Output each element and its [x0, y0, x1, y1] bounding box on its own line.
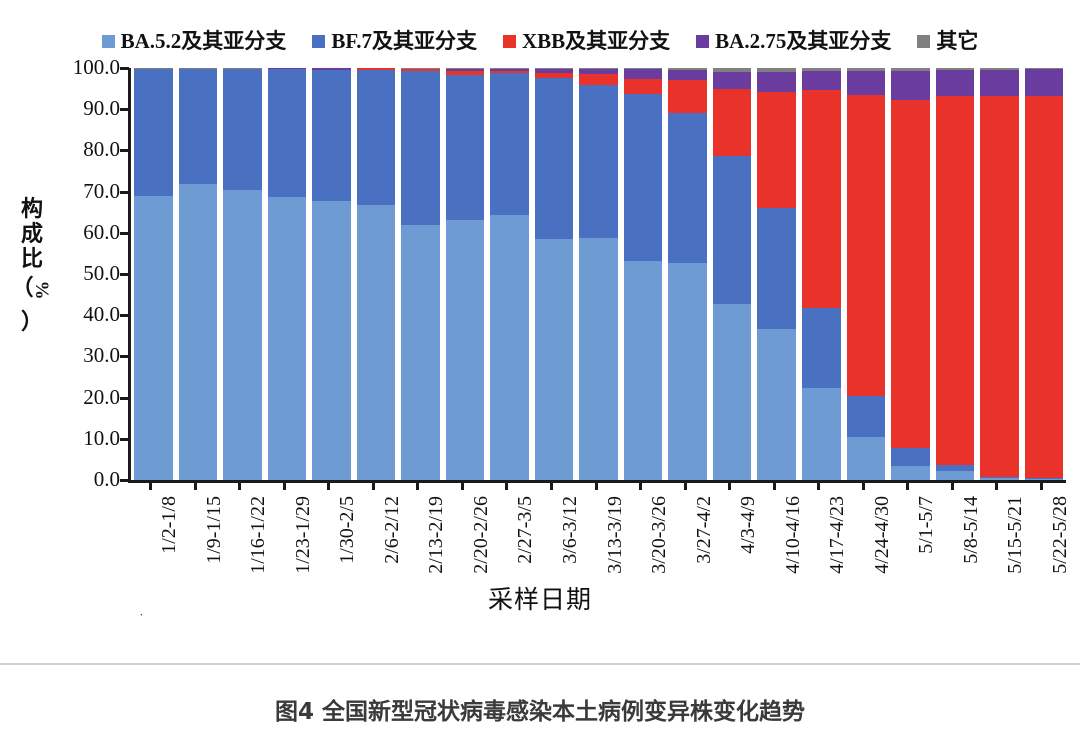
- legend-item[interactable]: 其它: [917, 31, 978, 52]
- bar-segment: [802, 388, 841, 480]
- bar-segment: [312, 70, 351, 201]
- x-axis-tick-mark: [372, 481, 375, 490]
- bar-segment: [891, 100, 930, 448]
- y-axis-tick-mark: [120, 479, 129, 482]
- bar-column[interactable]: [665, 68, 710, 480]
- chart-legend: BA.5.2及其亚分支BF.7及其亚分支XBB及其亚分支BA.2.75及其亚分支…: [0, 24, 1080, 58]
- x-axis-tick-label: 2/13-2/19: [426, 496, 446, 574]
- legend-item[interactable]: BF.7及其亚分支: [312, 31, 477, 52]
- y-axis-tick-mark: [120, 314, 129, 317]
- bar-column[interactable]: [131, 68, 176, 480]
- legend-item-label: BA.2.75及其亚分支: [715, 31, 891, 52]
- bar-segment: [268, 197, 307, 480]
- bar-segment: [847, 71, 886, 96]
- x-axis-tick-mark: [995, 481, 998, 490]
- bar-segment: [357, 205, 396, 480]
- bar-segment: [713, 304, 752, 480]
- bar-segment: [847, 95, 886, 396]
- bar-segment: [134, 196, 173, 480]
- bar-segment: [757, 72, 796, 92]
- x-axis-tick-label: 3/13-3/19: [605, 496, 625, 574]
- x-axis-tick-label: 1/23-1/29: [293, 496, 313, 574]
- x-axis-tick-label: 2/27-3/5: [515, 496, 535, 564]
- bar-segment: [579, 238, 618, 480]
- bar-segment: [668, 263, 707, 480]
- plot-area: [128, 68, 1066, 483]
- x-axis-tick-label: 4/24-4/30: [872, 496, 892, 574]
- bar-segment: [847, 437, 886, 480]
- x-axis-tick-mark: [817, 481, 820, 490]
- figure-divider: [0, 663, 1080, 665]
- bar-column[interactable]: [933, 68, 978, 480]
- bar-segment: [624, 94, 663, 261]
- x-axis-tick-mark: [728, 481, 731, 490]
- y-axis-title-line: 成: [21, 221, 43, 246]
- y-axis-tick-label: 70.0: [42, 181, 120, 202]
- bar-segment: [668, 113, 707, 263]
- bar-segment: [357, 70, 396, 205]
- x-axis-tick-label: 5/1-5/7: [916, 496, 936, 554]
- legend-swatch-icon: [312, 35, 325, 48]
- bar-column[interactable]: [487, 68, 532, 480]
- bar-column[interactable]: [398, 68, 443, 480]
- bar-column[interactable]: [888, 68, 933, 480]
- bar-segment: [624, 69, 663, 79]
- x-axis-tick-label: 2/6-2/12: [382, 496, 402, 564]
- bar-segment: [713, 72, 752, 89]
- bar-column[interactable]: [977, 68, 1022, 480]
- bar-segment: [223, 190, 262, 480]
- bar-segment: [624, 261, 663, 480]
- bar-segment: [446, 220, 485, 480]
- bar-column[interactable]: [754, 68, 799, 480]
- bar-segment: [891, 466, 930, 480]
- x-axis-tick-mark: [283, 481, 286, 490]
- bar-segment: [1025, 96, 1064, 478]
- bar-segment: [980, 96, 1019, 477]
- bar-segment: [535, 239, 574, 480]
- x-axis-tick-label: 1/16-1/22: [248, 496, 268, 574]
- x-axis-tick-label: 1/2-1/8: [159, 496, 179, 554]
- x-axis-tick-mark: [149, 481, 152, 490]
- legend-item[interactable]: BA.5.2及其亚分支: [102, 31, 287, 52]
- bar-segment: [401, 225, 440, 480]
- y-axis-tick-mark: [120, 67, 129, 70]
- x-axis-tick-mark: [194, 481, 197, 490]
- bar-column[interactable]: [354, 68, 399, 480]
- x-axis-tick-label: 4/17-4/23: [827, 496, 847, 574]
- x-axis-tick-mark: [773, 481, 776, 490]
- x-axis-tick-label: 5/8-5/14: [961, 496, 981, 564]
- x-axis-tick-label: 1/9-1/15: [204, 496, 224, 564]
- legend-item-label: BF.7及其亚分支: [331, 31, 477, 52]
- bar-column[interactable]: [532, 68, 577, 480]
- bar-column[interactable]: [799, 68, 844, 480]
- y-axis-tick-mark: [120, 355, 129, 358]
- y-axis-tick-label: 50.0: [42, 263, 120, 284]
- x-axis-tick-label: 1/30-2/5: [337, 496, 357, 564]
- bar-segment: [891, 71, 930, 100]
- y-axis-tick-label: 90.0: [42, 98, 120, 119]
- bar-segment: [624, 79, 663, 93]
- y-axis-tick-mark: [120, 397, 129, 400]
- bar-segment: [713, 89, 752, 156]
- x-axis-tick-mark: [639, 481, 642, 490]
- y-axis-tick-label: 80.0: [42, 139, 120, 160]
- figure-caption: 图4 全国新型冠状病毒感染本土病例变异株变化趋势: [0, 692, 1080, 726]
- y-axis-tick-label: 60.0: [42, 222, 120, 243]
- bar-column[interactable]: [176, 68, 221, 480]
- bar-column[interactable]: [309, 68, 354, 480]
- bar-segment: [1025, 479, 1064, 480]
- bar-segment: [579, 74, 618, 85]
- bar-segment: [802, 71, 841, 90]
- legend-item[interactable]: XBB及其亚分支: [503, 31, 670, 52]
- legend-swatch-icon: [917, 35, 930, 48]
- bar-segment: [847, 396, 886, 437]
- legend-item-label: 其它: [936, 31, 978, 52]
- bar-segment: [446, 75, 485, 221]
- bar-segment: [490, 73, 529, 214]
- y-axis-tick-mark: [120, 108, 129, 111]
- x-axis-tick-label: 4/3-4/9: [738, 496, 758, 554]
- bar-segment: [223, 69, 262, 189]
- y-axis-title-line: 比: [21, 246, 43, 271]
- x-axis-tick-mark: [862, 481, 865, 490]
- x-axis-title: 采样日期: [0, 580, 1080, 616]
- x-axis-tick-mark: [951, 481, 954, 490]
- x-axis-tick-mark: [550, 481, 553, 490]
- y-axis-tick-label: 30.0: [42, 345, 120, 366]
- bar-segment: [802, 90, 841, 308]
- bar-segment: [757, 329, 796, 480]
- x-axis-tick-label: 5/22-5/28: [1050, 496, 1070, 574]
- y-axis-title-line: 构: [21, 196, 43, 221]
- x-axis-tick-mark: [684, 481, 687, 490]
- bar-segment: [757, 208, 796, 329]
- y-axis-tick-label: 100.0: [42, 57, 120, 78]
- x-axis-tick-mark: [505, 481, 508, 490]
- bar-segment: [134, 69, 173, 195]
- legend-item[interactable]: BA.2.75及其亚分支: [696, 31, 891, 52]
- y-axis-tick-mark: [120, 149, 129, 152]
- stray-mark: ˙: [139, 612, 144, 628]
- bar-segment: [757, 92, 796, 208]
- legend-item-label: BA.5.2及其亚分支: [121, 31, 287, 52]
- bar-segment: [668, 70, 707, 81]
- bar-column[interactable]: [220, 68, 265, 480]
- legend-item-label: XBB及其亚分支: [522, 31, 670, 52]
- legend-swatch-icon: [503, 35, 516, 48]
- bar-segment: [401, 71, 440, 224]
- bar-column[interactable]: [265, 68, 310, 480]
- x-axis-tick-mark: [461, 481, 464, 490]
- bar-segment: [179, 184, 218, 480]
- y-axis-tick-mark: [120, 273, 129, 276]
- bar-segment: [802, 308, 841, 388]
- bar-segment: [936, 96, 975, 465]
- bar-segment: [713, 156, 752, 304]
- bar-segment: [268, 69, 307, 197]
- bar-segment: [980, 70, 1019, 96]
- bar-column[interactable]: [710, 68, 755, 480]
- x-axis-tick-label: 3/6-3/12: [560, 496, 580, 564]
- bar-segment: [579, 85, 618, 238]
- bar-segment: [936, 70, 975, 96]
- x-axis-tick-mark: [327, 481, 330, 490]
- legend-swatch-icon: [102, 35, 115, 48]
- bar-series-group: [131, 68, 1066, 480]
- y-axis-tick-mark: [120, 438, 129, 441]
- x-axis-tick-label: 3/20-3/26: [649, 496, 669, 574]
- y-axis-tick-label: 0.0: [42, 469, 120, 490]
- figure-container: BA.5.2及其亚分支BF.7及其亚分支XBB及其亚分支BA.2.75及其亚分支…: [0, 0, 1080, 739]
- bar-segment: [312, 201, 351, 480]
- bar-segment: [936, 471, 975, 480]
- x-axis-tick-label: 3/27-4/2: [694, 496, 714, 564]
- x-axis-tick-mark: [416, 481, 419, 490]
- x-axis-tick-mark: [1040, 481, 1043, 490]
- x-axis-tick-label: 2/20-2/26: [471, 496, 491, 574]
- legend-swatch-icon: [696, 35, 709, 48]
- x-axis-tick-label: 5/15-5/21: [1005, 496, 1025, 574]
- bar-segment: [1025, 69, 1064, 96]
- bar-segment: [535, 78, 574, 239]
- bar-column[interactable]: [1022, 68, 1067, 480]
- x-axis-tick-mark: [238, 481, 241, 490]
- x-axis-tick-label: 4/10-4/16: [783, 496, 803, 574]
- bar-column[interactable]: [621, 68, 666, 480]
- y-axis-tick-label: 20.0: [42, 387, 120, 408]
- x-axis-tick-mark: [595, 481, 598, 490]
- y-axis-tick-label: 40.0: [42, 304, 120, 325]
- y-axis-tick-mark: [120, 232, 129, 235]
- bar-column[interactable]: [443, 68, 488, 480]
- bar-segment: [980, 478, 1019, 480]
- y-axis-tick-label: 10.0: [42, 428, 120, 449]
- x-axis-tick-mark: [906, 481, 909, 490]
- bar-segment: [891, 448, 930, 466]
- bar-column[interactable]: [844, 68, 889, 480]
- bar-segment: [179, 69, 218, 184]
- bar-column[interactable]: [576, 68, 621, 480]
- bar-segment: [490, 215, 529, 480]
- y-axis-tick-mark: [120, 191, 129, 194]
- bar-segment: [668, 80, 707, 113]
